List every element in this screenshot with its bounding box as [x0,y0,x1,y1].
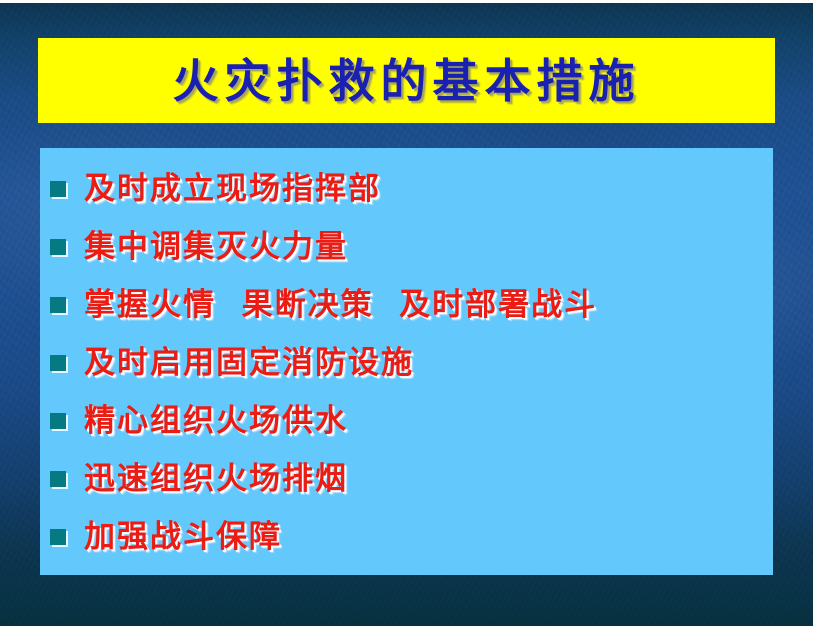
bullet-label: 集中调集灭火力量 [84,232,348,263]
bullet-label: 掌握火情 果断决策 及时部署战斗 [84,290,597,321]
presentation-slide: 火灾扑救的基本措施 及时成立现场指挥部 集中调集灭火力量 掌握火情 果断决策 及… [0,0,813,626]
square-bullet-icon [50,297,66,313]
bullet-item-3: 掌握火情 果断决策 及时部署战斗 [40,276,773,334]
bullet-label: 精心组织火场供水 [84,406,348,437]
content-panel: 及时成立现场指挥部 集中调集灭火力量 掌握火情 果断决策 及时部署战斗 及时启用… [40,148,773,575]
bullet-label: 及时启用固定消防设施 [84,348,414,379]
square-bullet-icon [50,529,66,545]
bullet-label: 加强战斗保障 [84,522,282,553]
square-bullet-icon [50,413,66,429]
title-banner: 火灾扑救的基本措施 [38,38,775,123]
bullet-item-6: 迅速组织火场排烟 [40,450,773,508]
square-bullet-icon [50,181,66,197]
square-bullet-icon [50,471,66,487]
bullet-item-4: 及时启用固定消防设施 [40,334,773,392]
bullet-label: 迅速组织火场排烟 [84,464,348,495]
bullet-item-5: 精心组织火场供水 [40,392,773,450]
bullet-item-7: 加强战斗保障 [40,508,773,566]
square-bullet-icon [50,239,66,255]
bullet-item-2: 集中调集灭火力量 [40,218,773,276]
square-bullet-icon [50,355,66,371]
slide-title: 火灾扑救的基本措施 [173,58,641,104]
bullet-label: 及时成立现场指挥部 [84,174,381,205]
slide-top-edge [0,0,813,3]
bullet-item-1: 及时成立现场指挥部 [40,160,773,218]
